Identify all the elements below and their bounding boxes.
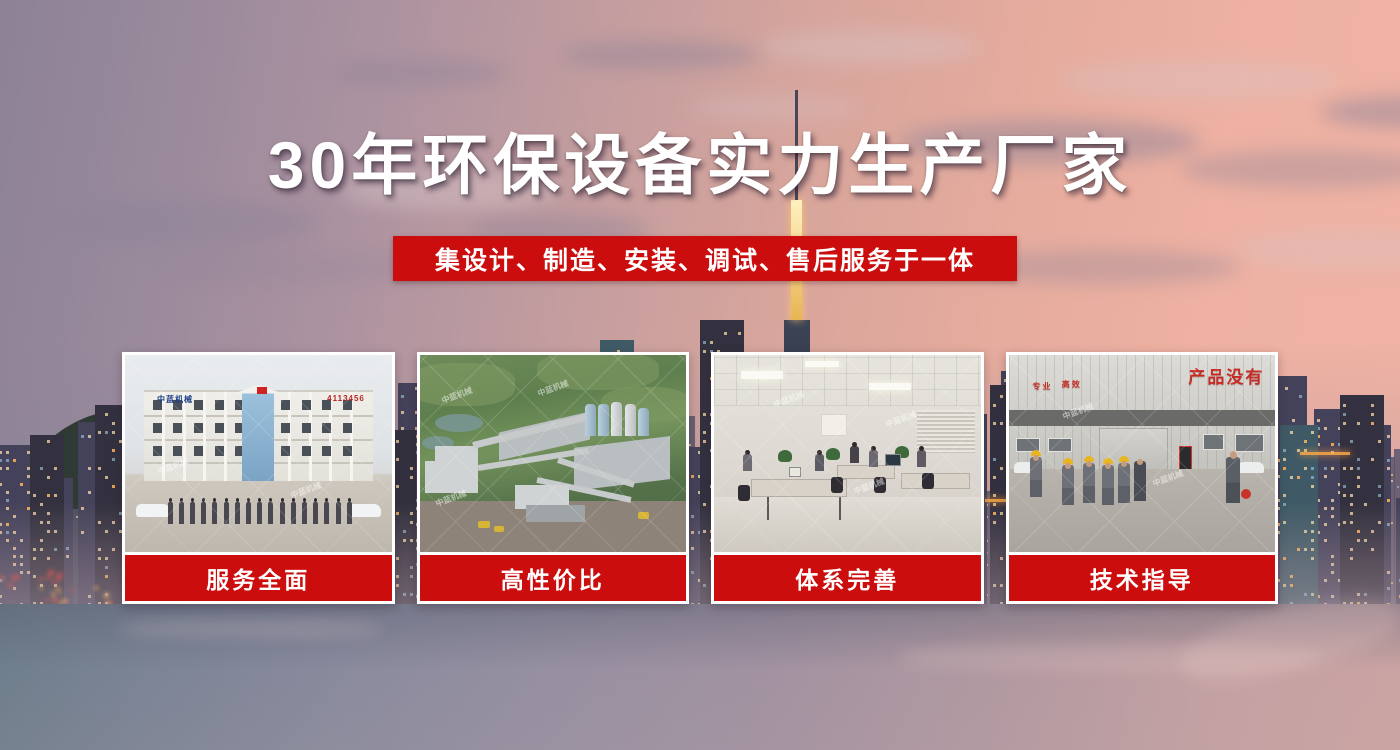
card-photo-aerial-plant: 中蓝机械 中蓝机械 中蓝机械 <box>420 355 687 552</box>
feature-card[interactable]: 中蓝机械 中蓝机械 中蓝机械 体系完善 <box>711 352 984 604</box>
card-caption-text: 服务全面 <box>206 561 310 595</box>
subtitle-banner: 集设计、制造、安装、调试、售后服务于一体 <box>393 236 1017 281</box>
card-caption: 服务全面 <box>125 555 392 601</box>
cloud <box>60 200 320 246</box>
feature-card[interactable]: 中蓝机械 中蓝机械 中蓝机械 高性价比 <box>417 352 690 604</box>
card-caption: 高性价比 <box>420 555 687 601</box>
card-caption-text: 高性价比 <box>501 561 605 595</box>
feature-card[interactable]: 中蓝机械 4113456 中蓝机械 中蓝机械 服务全面 <box>122 352 395 604</box>
cloud <box>980 250 1240 284</box>
card-photo-office-building: 中蓝机械 4113456 中蓝机械 中蓝机械 <box>125 355 392 552</box>
card-caption-text: 技术指导 <box>1090 561 1194 595</box>
promo-banner: 30年环保设备实力生产厂家 集设计、制造、安装、调试、售后服务于一体 <box>0 0 1400 750</box>
feature-card[interactable]: 产品没有 专业 高效 <box>1006 352 1279 604</box>
card-caption-text: 体系完善 <box>795 561 899 595</box>
subtitle-text: 集设计、制造、安装、调试、售后服务于一体 <box>435 241 975 277</box>
page-title: 30年环保设备实力生产厂家 <box>0 132 1400 198</box>
cloud <box>690 95 860 121</box>
building-crown-light <box>1300 452 1350 455</box>
card-photo-office-interior: 中蓝机械 中蓝机械 中蓝机械 <box>714 355 981 552</box>
card-caption: 体系完善 <box>714 555 981 601</box>
cloud <box>760 30 980 64</box>
cloud <box>330 60 510 86</box>
card-photo-workers-factory: 产品没有 专业 高效 <box>1009 355 1276 552</box>
feature-card-list: 中蓝机械 4113456 中蓝机械 中蓝机械 服务全面 <box>122 352 1278 604</box>
cloud <box>1060 60 1340 100</box>
card-caption: 技术指导 <box>1009 555 1276 601</box>
cloud <box>560 40 760 70</box>
river-water <box>0 604 1400 750</box>
